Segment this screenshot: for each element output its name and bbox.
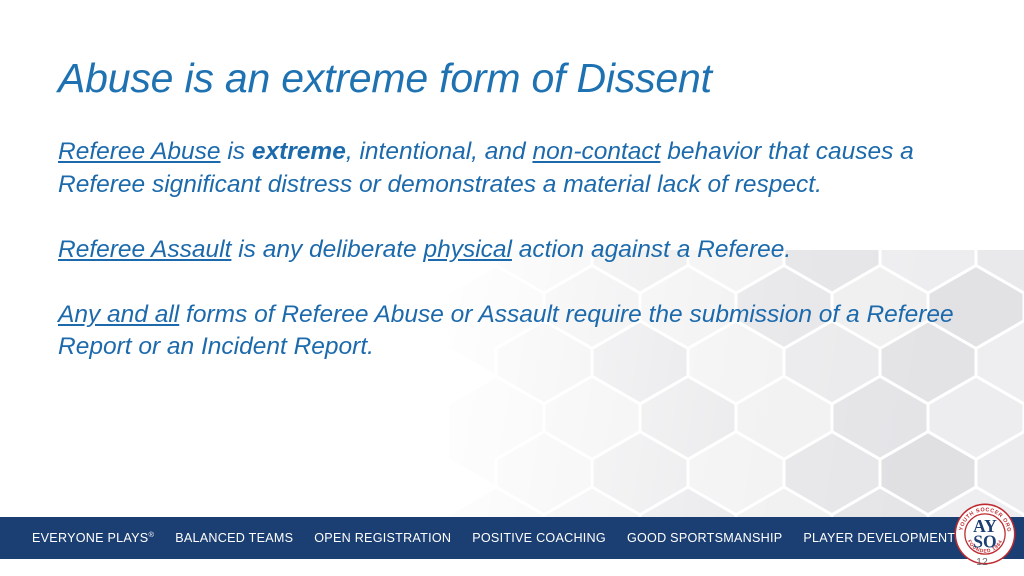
footer-tagline-open-registration: OPEN REGISTRATION [314,531,451,545]
slide-canvas: Abuse is an extreme form of Dissent Refe… [0,0,1024,576]
p1-seg-4: , intentional, and [346,138,533,165]
footer-tagline-label: EVERYONE PLAYS [32,532,148,546]
logo-monogram-so: SO [973,531,996,551]
p2-seg-2: is any deliberate [231,236,423,263]
footer-tagline-everyone-plays: EVERYONE PLAYS® [32,530,154,545]
term-referee-assault: Referee Assault [58,236,231,263]
p1-seg-2: is [221,138,252,165]
p3-seg-2: forms of Referee Abuse or Assault requir… [58,301,954,361]
paragraph-spacer-2 [58,266,963,299]
page-number: 12 [962,556,1002,568]
paragraph-spacer-1 [58,201,963,234]
slide-title: Abuse is an extreme form of Dissent [58,56,938,102]
body-paragraph-2: Referee Assault is any deliberate physic… [58,234,963,267]
body-paragraph-1: Referee Abuse is extreme, intentional, a… [58,136,963,201]
body-paragraph-3: Any and all forms of Referee Abuse or As… [58,299,963,364]
term-referee-abuse: Referee Abuse [58,138,221,165]
term-physical: physical [423,236,512,263]
slide-body: Referee Abuse is extreme, intentional, a… [58,136,963,364]
footer-tagline-player-development: PLAYER DEVELOPMENT [803,531,955,545]
emphasis-extreme: extreme [252,138,346,165]
footer-taglines: EVERYONE PLAYS® BALANCED TEAMS OPEN REGI… [0,517,900,559]
term-non-contact: non-contact [532,138,660,165]
registered-trademark-icon: ® [148,530,154,539]
term-any-and-all: Any and all [58,301,179,328]
footer-tagline-balanced-teams: BALANCED TEAMS [175,531,293,545]
p2-seg-4: action against a Referee. [512,236,791,263]
footer-tagline-good-sportsmanship: GOOD SPORTSMANSHIP [627,531,782,545]
footer-tagline-positive-coaching: POSITIVE COACHING [472,531,606,545]
